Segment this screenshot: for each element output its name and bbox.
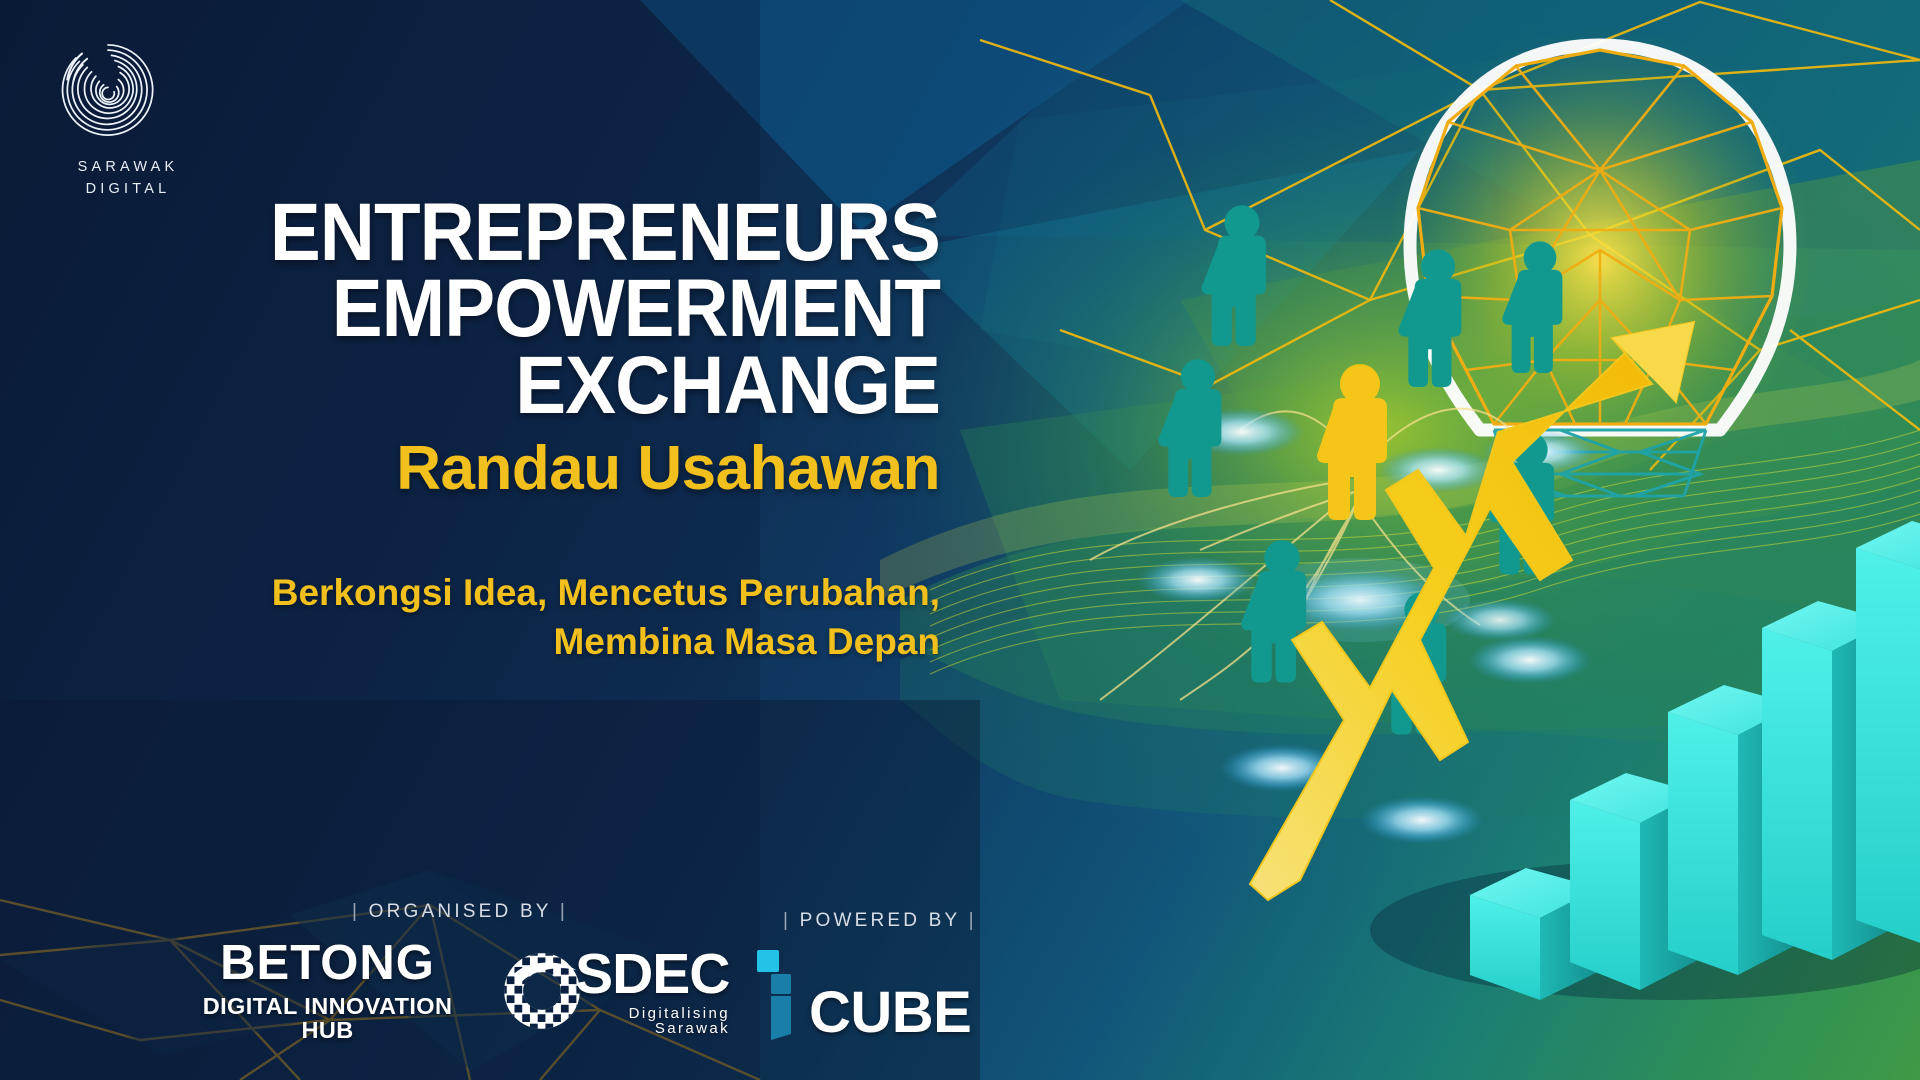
hero-tagline-line-2: Membina Masa Depan xyxy=(0,618,940,667)
label-bar-right: | xyxy=(560,901,568,922)
label-bar-left: | xyxy=(783,910,791,931)
betong-subtitle: DIGITAL INNOVATION HUB xyxy=(190,995,465,1042)
hero-tagline-line-1: Berkongsi Idea, Mencetus Perubahan, xyxy=(0,569,940,618)
organised-by-label: | ORGANISED BY | xyxy=(190,901,730,923)
sarawak-digital-wordmark: SARAWAK DIGITAL xyxy=(48,157,208,201)
sdec-logo[interactable]: SDEC Digitalising Sarawak xyxy=(499,946,730,1036)
icube-i-mark-icon xyxy=(755,948,801,1040)
sdec-globe-icon xyxy=(499,948,585,1034)
powered-by-group: | POWERED BY | CUBE xyxy=(755,910,1055,1040)
powered-by-label: | POWERED BY | xyxy=(755,910,1055,932)
betong-name: BETONG xyxy=(190,939,465,988)
hero-text-block: ENTREPRENEURS EMPOWERMENT EXCHANGE Randa… xyxy=(0,195,960,667)
betong-logo[interactable]: BETONG DIGITAL INNOVATION HUB xyxy=(190,939,465,1042)
brand-name-line1: SARAWAK xyxy=(48,157,208,179)
hero-title-line-3: EXCHANGE xyxy=(66,348,940,424)
sarawak-digital-spiral-icon xyxy=(56,38,160,142)
organised-by-group: | ORGANISED BY | BETONG DIGITAL INNOVATI… xyxy=(190,901,730,1042)
sdec-name: SDEC xyxy=(575,946,730,1003)
powered-by-text: POWERED BY xyxy=(800,910,960,931)
hero-title-line-1: ENTREPRENEURS xyxy=(66,195,940,271)
icube-wordmark: CUBE xyxy=(809,985,971,1040)
promo-banner: SARAWAK DIGITAL ENTREPRENEURS EMPOWERMEN… xyxy=(0,0,1920,1080)
footer-credits: | ORGANISED BY | BETONG DIGITAL INNOVATI… xyxy=(0,882,1100,1052)
icube-logo[interactable]: CUBE xyxy=(755,948,1055,1040)
label-bar-right: | xyxy=(969,910,977,931)
organised-by-text: ORGANISED BY xyxy=(369,901,552,922)
person-figure-icon xyxy=(1138,359,1258,603)
hero-tagline: Berkongsi Idea, Mencetus Perubahan, Memb… xyxy=(0,569,940,667)
bar-5 xyxy=(1856,521,1920,945)
label-bar-left: | xyxy=(352,901,360,922)
hero-title-line-2: EMPOWERMENT xyxy=(66,271,940,347)
person-figure-icon xyxy=(1444,599,1556,641)
hero-subtitle: Randau Usahawan xyxy=(0,430,940,508)
sdec-tagline: Digitalising Sarawak xyxy=(575,1006,730,1036)
sarawak-digital-logo[interactable]: SARAWAK DIGITAL xyxy=(48,38,208,201)
